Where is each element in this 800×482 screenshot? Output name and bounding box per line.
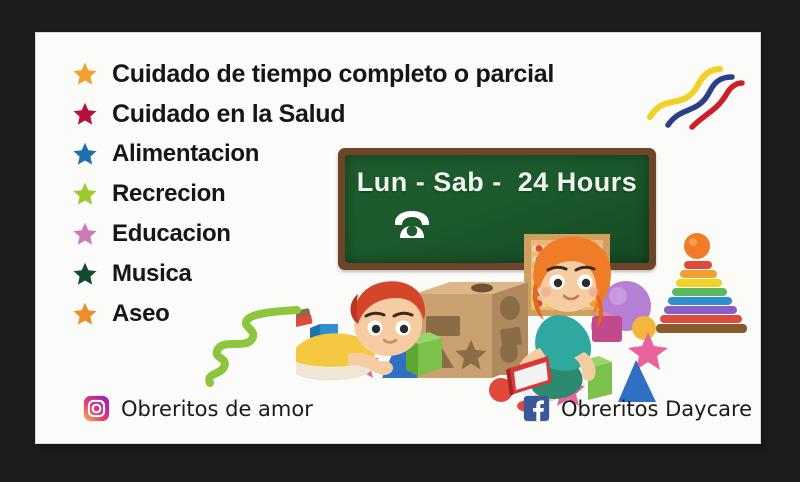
instagram-handle: Obreritos de amor bbox=[121, 397, 313, 421]
services-list: Cuidado de tiempo completo o parcial Cui… bbox=[72, 57, 672, 331]
service-item-cuidado-salud: Cuidado en la Salud bbox=[72, 97, 672, 131]
service-item-educacion: Educacion bbox=[72, 217, 672, 251]
service-item-cuidado-tiempo: Cuidado de tiempo completo o parcial bbox=[72, 57, 672, 91]
instagram-icon[interactable] bbox=[83, 395, 110, 422]
star-icon bbox=[72, 141, 98, 167]
instagram-link[interactable]: Obreritos de amor bbox=[83, 395, 313, 422]
service-label: Musica bbox=[112, 262, 192, 286]
service-label: Cuidado en la Salud bbox=[112, 102, 345, 127]
facebook-link[interactable]: Obreritos Daycare bbox=[523, 395, 752, 422]
flyer-canvas: Cuidado de tiempo completo o parcial Cui… bbox=[0, 0, 800, 482]
star-icon bbox=[72, 221, 98, 247]
star-icon bbox=[72, 301, 98, 327]
star-icon bbox=[72, 61, 98, 87]
service-label: Recrecion bbox=[112, 182, 225, 206]
flyer-card: Cuidado de tiempo completo o parcial Cui… bbox=[36, 33, 760, 443]
star-icon bbox=[72, 261, 98, 287]
star-icon bbox=[72, 181, 98, 207]
service-item-aseo: Aseo bbox=[72, 297, 672, 331]
star-icon bbox=[72, 101, 98, 127]
service-label: Cuidado de tiempo completo o parcial bbox=[112, 62, 554, 87]
service-item-musica: Musica bbox=[72, 257, 672, 291]
service-label: Aseo bbox=[112, 302, 170, 326]
service-item-recrecion: Recrecion bbox=[72, 177, 672, 211]
footer-social-bar: Obreritos de amor Obreritos Daycare bbox=[36, 395, 760, 433]
service-item-alimentacion: Alimentacion bbox=[72, 137, 672, 171]
facebook-icon[interactable] bbox=[523, 395, 550, 422]
facebook-handle: Obreritos Daycare bbox=[561, 397, 752, 421]
service-label: Alimentacion bbox=[112, 142, 259, 166]
service-label: Educacion bbox=[112, 222, 231, 246]
